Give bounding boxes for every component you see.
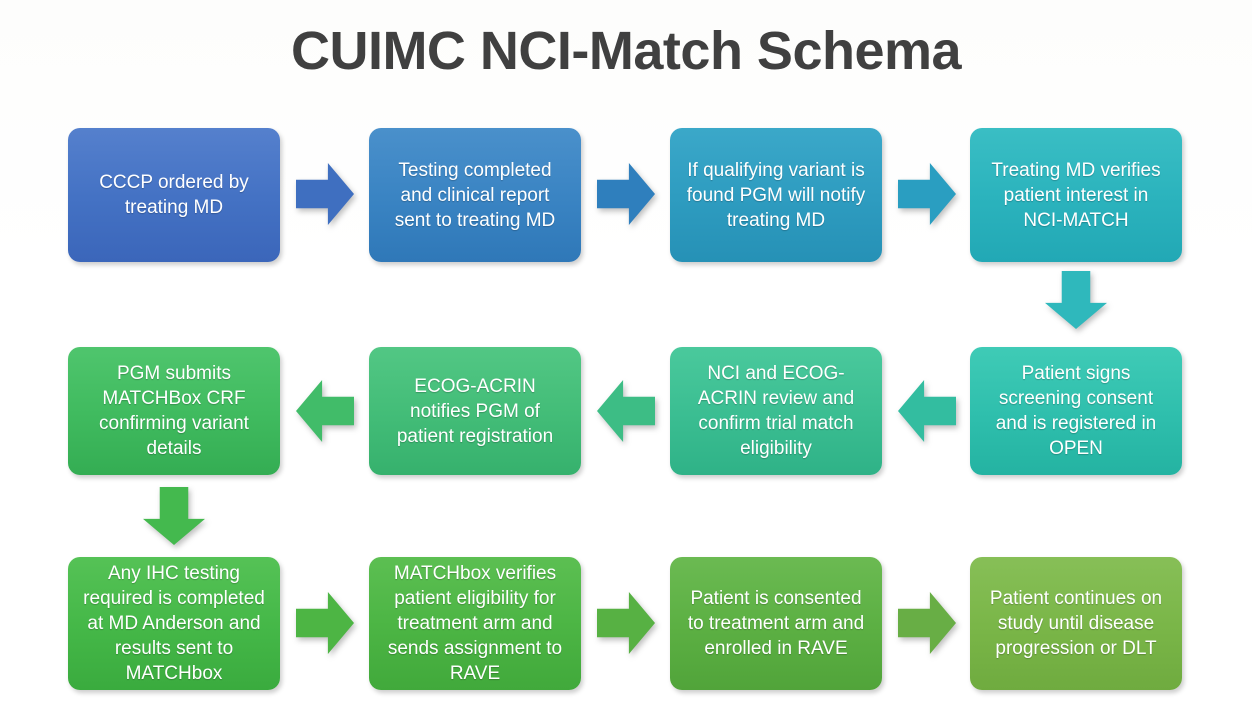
flowchart-arrow-right-a2 <box>597 163 655 225</box>
flowchart-node-n8: PGM submits MATCHBox CRF confirming vari… <box>68 347 280 475</box>
flowchart-arrow-right-a9 <box>296 592 354 654</box>
flowchart-node-label: Any IHC testing required is completed at… <box>78 561 270 686</box>
flowchart-node-n6: NCI and ECOG- ACRIN review and confirm t… <box>670 347 882 475</box>
flowchart-node-n4: Treating MD verifies patient interest in… <box>970 128 1182 262</box>
flowchart-node-label: NCI and ECOG- ACRIN review and confirm t… <box>680 361 872 461</box>
flowchart-node-n12: Patient continues on study until disease… <box>970 557 1182 690</box>
flowchart-arrow-right-a11 <box>898 592 956 654</box>
flowchart-node-label: ECOG-ACRIN notifies PGM of patient regis… <box>379 374 571 449</box>
flowchart-node-n11: Patient is consented to treatment arm an… <box>670 557 882 690</box>
flowchart-node-n7: ECOG-ACRIN notifies PGM of patient regis… <box>369 347 581 475</box>
flowchart-arrow-left-a6 <box>597 380 655 442</box>
flowchart-arrow-down-a4 <box>1045 271 1107 329</box>
flowchart-node-n9: Any IHC testing required is completed at… <box>68 557 280 690</box>
flowchart-arrow-right-a1 <box>296 163 354 225</box>
flowchart-arrow-right-a10 <box>597 592 655 654</box>
flowchart-arrow-down-a8 <box>143 487 205 545</box>
slide-canvas: CUIMC NCI-Match Schema CCCP ordered by t… <box>0 0 1252 710</box>
flowchart-node-label: Patient continues on study until disease… <box>980 586 1172 661</box>
flowchart-arrow-left-a7 <box>296 380 354 442</box>
flowchart-arrow-left-a5 <box>898 380 956 442</box>
flowchart-node-label: MATCHbox verifies patient eligibility fo… <box>379 561 571 686</box>
flowchart-node-n1: CCCP ordered by treating MD <box>68 128 280 262</box>
flowchart-node-label: CCCP ordered by treating MD <box>78 170 270 220</box>
flowchart-node-label: Testing completed and clinical report se… <box>379 158 571 233</box>
page-title: CUIMC NCI-Match Schema <box>0 22 1252 81</box>
flowchart-node-label: PGM submits MATCHBox CRF confirming vari… <box>78 361 270 461</box>
flowchart-node-n3: If qualifying variant is found PGM will … <box>670 128 882 262</box>
flowchart-node-n10: MATCHbox verifies patient eligibility fo… <box>369 557 581 690</box>
flowchart-node-label: Patient signs screening consent and is r… <box>980 361 1172 461</box>
flowchart-arrow-right-a3 <box>898 163 956 225</box>
flowchart-node-n2: Testing completed and clinical report se… <box>369 128 581 262</box>
flowchart-node-label: Patient is consented to treatment arm an… <box>680 586 872 661</box>
flowchart-node-label: If qualifying variant is found PGM will … <box>680 158 872 233</box>
flowchart-node-label: Treating MD verifies patient interest in… <box>980 158 1172 233</box>
flowchart-node-n5: Patient signs screening consent and is r… <box>970 347 1182 475</box>
